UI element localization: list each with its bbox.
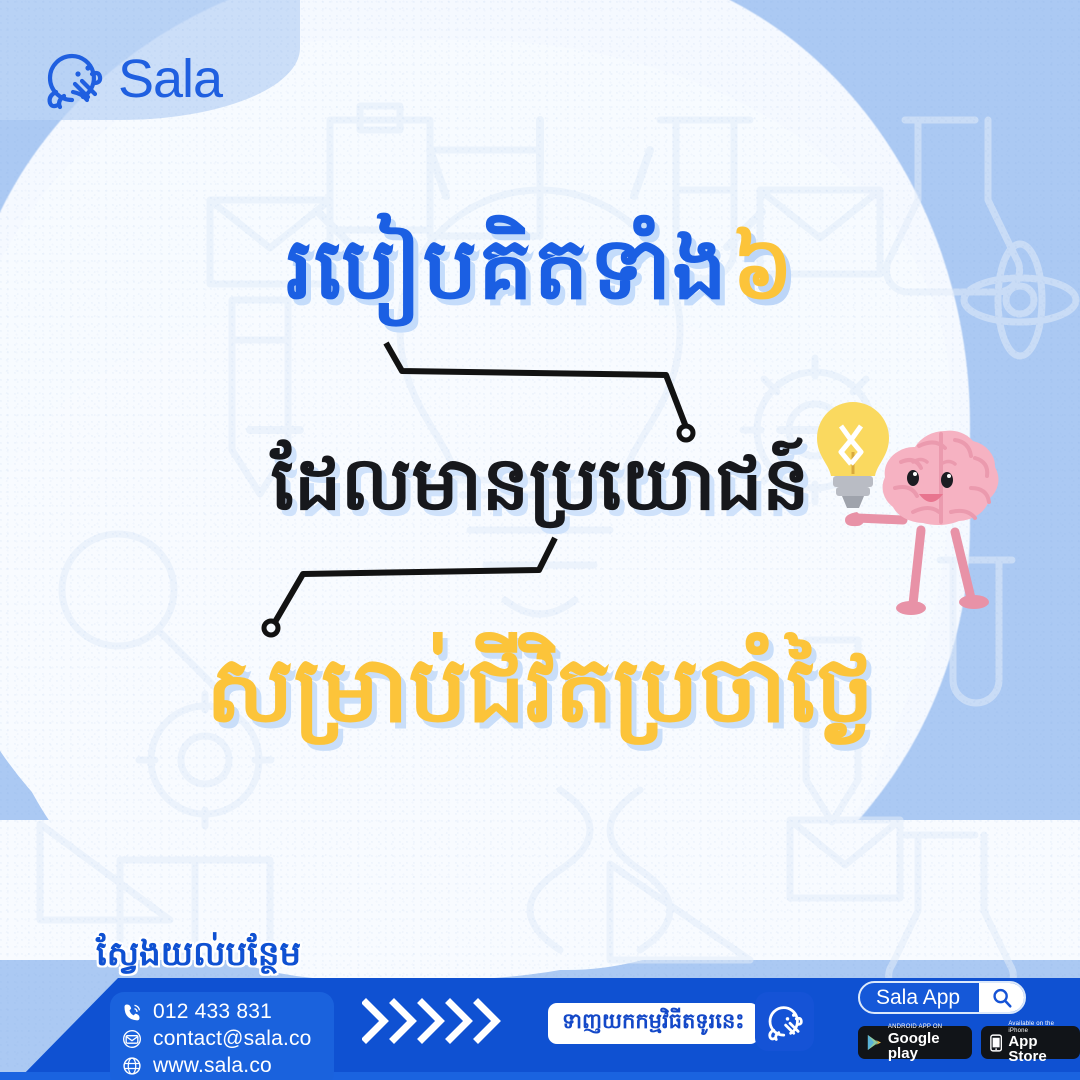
phone-number: 012 433 831	[153, 1000, 272, 1024]
brand-logo[interactable]: Sala	[42, 48, 222, 110]
google-play-badge[interactable]: ANDROID APP ON Google play	[858, 1026, 972, 1059]
apple-icon	[990, 1033, 1002, 1053]
app-store-badge[interactable]: Available on the iPhone App Store	[981, 1026, 1080, 1059]
sala-jellyfish-icon	[765, 1002, 805, 1042]
poster-canvas: Sala របៀបគិតទាំង ៦ ដែលមានប្រយោជន៍ សម្រាប…	[0, 0, 1080, 1080]
envelope-icon	[122, 1029, 142, 1049]
mascot-foot-right	[959, 595, 989, 609]
mascot-legs	[913, 530, 971, 604]
mascot-eye-right	[941, 472, 953, 488]
mascot-foot-left	[896, 601, 926, 615]
headline-number: ៦	[732, 219, 794, 319]
brain-mascot	[795, 392, 1030, 637]
globe-icon	[122, 1056, 142, 1076]
phone-icon	[122, 1002, 142, 1022]
email-address: contact@sala.co	[153, 1027, 312, 1051]
headline-line-3-text: សម្រាប់ជីវិតប្រចាំថ្ងៃ	[206, 636, 874, 743]
app-store-badge-top: Available on the iPhone	[1008, 1021, 1071, 1034]
brand-name: Sala	[118, 52, 222, 106]
headline-line-1-text: របៀបគិតទាំង	[286, 219, 728, 319]
app-search-box[interactable]: Sala App	[858, 981, 1026, 1014]
contact-row-website[interactable]: www.sala.co	[122, 1052, 312, 1079]
contact-row-phone[interactable]: 012 433 831	[122, 998, 312, 1025]
contact-info-box: 012 433 831 contact@sala.co www.sala.co	[110, 992, 334, 1080]
contact-row-email[interactable]: contact@sala.co	[122, 1025, 312, 1052]
lightbulb-icon	[817, 402, 889, 508]
headline-line-3: សម្រាប់ជីវិតប្រចាំថ្ងៃ	[0, 630, 1080, 750]
download-app-text: ទាញយកកម្មវិធីតទូរនេះ	[562, 1009, 745, 1033]
learn-more-text: ស្វែងយល់បន្ថែម	[96, 934, 301, 974]
download-app-logo-tile[interactable]	[755, 992, 814, 1051]
connector-line-2	[255, 530, 575, 640]
store-badges: ANDROID APP ON Google play Available on …	[858, 1026, 1080, 1059]
mascot-eye-left	[907, 470, 919, 486]
sala-jellyfish-icon	[42, 48, 106, 110]
website-url: www.sala.co	[153, 1054, 272, 1078]
search-button[interactable]	[979, 983, 1024, 1012]
google-play-badge-name: Google play	[888, 1031, 963, 1061]
app-store-badge-name: App Store	[1008, 1034, 1071, 1064]
magnifier-icon	[991, 987, 1013, 1009]
download-app-label: ទាញយកកម្មវិធីតទូរនេះ	[548, 1003, 759, 1044]
learn-more-heading: ស្វែងយល់បន្ថែម	[96, 932, 301, 982]
headline-line-1: របៀបគិតទាំង ៦	[0, 216, 1080, 324]
connector-line-1	[380, 335, 700, 445]
mascot-brain-body	[883, 431, 999, 525]
chevron-arrows	[362, 998, 512, 1044]
app-search-value: Sala App	[860, 986, 979, 1010]
headline-line-2-text: ដែលមានប្រយោជន៍	[271, 441, 810, 527]
google-play-icon	[867, 1033, 882, 1052]
